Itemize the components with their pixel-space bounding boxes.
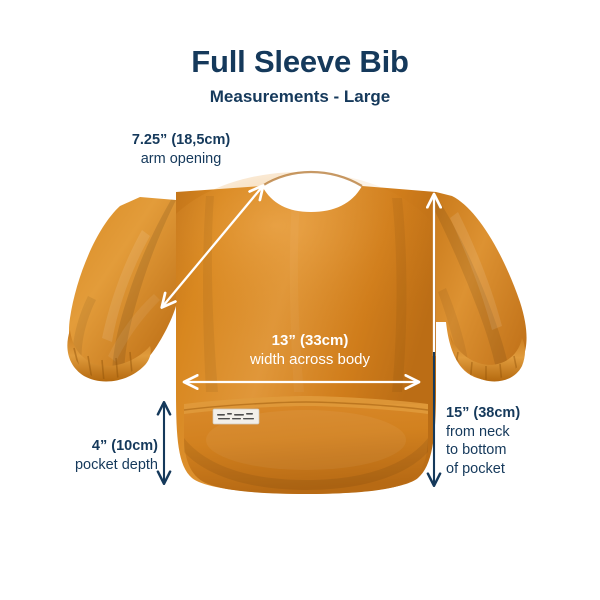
callout-pocket-depth: 4” (10cm) pocket depth (36, 437, 158, 474)
arm-opening-description: arm opening (86, 150, 276, 169)
callout-width-across-body: 13” (33cm) width across body (200, 331, 420, 369)
neck-to-pocket-line3: of pocket (446, 460, 576, 479)
width-across-body-value: 13” (33cm) (200, 331, 420, 350)
width-across-body-description: width across body (200, 350, 420, 369)
page-subtitle: Measurements - Large (0, 87, 600, 107)
arm-opening-value: 7.25” (18,5cm) (86, 131, 276, 150)
neck-to-pocket-value: 15” (38cm) (446, 404, 576, 423)
infographic-canvas: Full Sleeve Bib Measurements - Large 7.2… (0, 0, 600, 600)
callout-arm-opening: 7.25” (18,5cm) arm opening (86, 131, 276, 168)
arm-opening-arrow (163, 187, 262, 306)
callout-neck-to-pocket: 15” (38cm) from neck to bottom of pocket (446, 404, 576, 478)
pocket-depth-value: 4” (10cm) (36, 437, 158, 456)
neck-to-pocket-line2: to bottom (446, 441, 576, 460)
page-title: Full Sleeve Bib (0, 44, 600, 80)
pocket-depth-description: pocket depth (36, 456, 158, 475)
neck-to-pocket-line1: from neck (446, 423, 576, 442)
